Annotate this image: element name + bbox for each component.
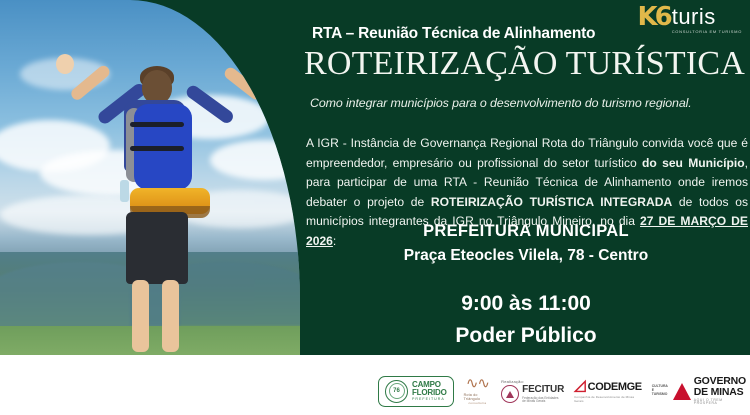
- hiker-leg-right: [162, 280, 179, 352]
- hiker-shorts: [126, 212, 188, 284]
- campo-florido-line3: PREFEITURA: [412, 398, 447, 402]
- venue-block: PREFEITURA MUNICIPAL Praça Eteocles Vile…: [302, 222, 750, 265]
- event-time: 9:00 às 11:00: [302, 288, 750, 320]
- hiker-photo: [0, 0, 300, 372]
- venue-name: PREFEITURA MUNICIPAL: [423, 222, 629, 240]
- fecitur-mark-icon: [501, 385, 519, 403]
- governo-minas-triangle-icon: [672, 381, 690, 401]
- hiker-hand-right: [262, 54, 280, 74]
- codemge-sub: Companhia de Desenvolvimento de Minas Ge…: [574, 395, 642, 403]
- logo-fecitur: Realização: FECITUR Federação das Entida…: [501, 379, 564, 403]
- fecitur-sub2: de Minas Gerais: [522, 400, 564, 403]
- codemge-mark-icon: ◿: [574, 379, 586, 394]
- page-title: ROTEIRIZAÇÃO TURÍSTICA: [304, 47, 750, 81]
- venue-address: Praça Eteocles Vilela, 78 - Centro: [302, 247, 750, 265]
- logo-codemge: ◿ CODEMGE Companhia de Desenvolvimento d…: [574, 379, 642, 403]
- event-flyer: K6 turis CONSULTORIA EM TURISMO RTA – Re…: [0, 0, 750, 415]
- invitation-bold-municipio: do seu Município: [642, 156, 745, 170]
- hiker-hand-left: [56, 54, 74, 74]
- schedule-block: 9:00 às 11:00 Poder Público: [302, 288, 750, 351]
- event-audience: Poder Público: [302, 320, 750, 352]
- turis-wordmark: turis: [672, 6, 742, 28]
- content-column: K6 turis CONSULTORIA EM TURISMO RTA – Re…: [302, 0, 750, 372]
- event-tagline: Como integrar municípios para o desenvol…: [310, 96, 750, 110]
- governo-line2: DE MINAS: [694, 387, 746, 398]
- hiker-leg-left: [132, 280, 149, 352]
- logo-governo-minas: CULTURA E TURISMO GOVERNO DE MINAS AQUI …: [652, 376, 746, 405]
- hiker-figure: [96, 60, 236, 360]
- event-kicker: RTA – Reunião Técnica de Alinhamento: [312, 25, 672, 43]
- logo-campo-florido: 76 CAMPO FLORIDO PREFEITURA: [378, 376, 454, 407]
- campo-florido-seal-icon: 76: [385, 380, 408, 403]
- codemge-name: CODEMGE: [588, 381, 642, 393]
- water-bottle: [120, 180, 129, 202]
- sponsor-logos: 76 CAMPO FLORIDO PREFEITURA ∿∿ Rota do T…: [378, 371, 746, 411]
- fecitur-name: FECITUR: [522, 385, 564, 395]
- campo-florido-line2: FLORIDO: [412, 389, 447, 397]
- hiker-head: [142, 70, 172, 104]
- backpack-strap: [130, 122, 184, 127]
- rota-triangulo-mark-icon: ∿∿: [466, 377, 489, 392]
- governo-label2: TURISMO: [652, 393, 670, 397]
- backpack-strap: [130, 146, 184, 151]
- invitation-bold-projeto: ROTEIRIZAÇÃO TURÍSTICA INTEGRADA: [431, 195, 672, 209]
- rota-triangulo-line2: consultoria: [468, 402, 486, 405]
- governo-tagline: AQUI O TREM PROSPERA: [694, 399, 746, 406]
- turis-tagline: CONSULTORIA EM TURISMO: [672, 30, 742, 34]
- logo-rota-triangulo: ∿∿ Rota do Triângulo consultoria: [464, 377, 492, 404]
- realizacao-label: Realização:: [501, 379, 524, 384]
